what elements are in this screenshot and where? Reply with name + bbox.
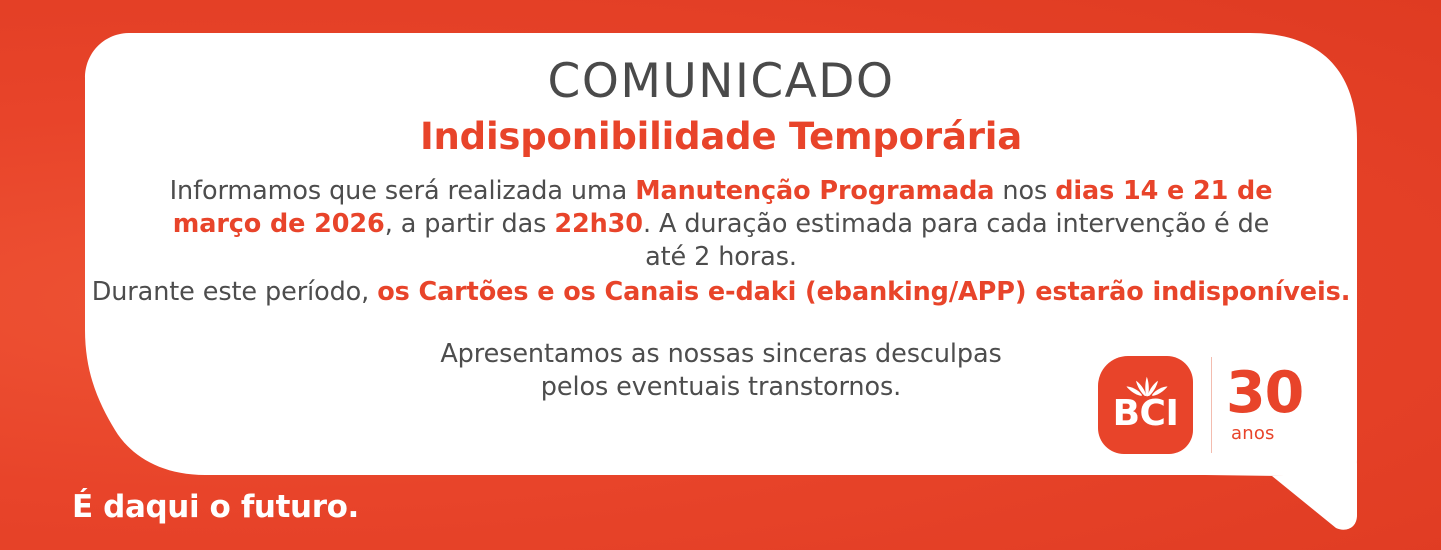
p2-highlight-channels: os Cartões e os Canais e-daki (ebanking/… — [377, 277, 1350, 307]
p2-text-part-1: Durante este período, — [92, 277, 377, 307]
notice-paragraph-2: Durante este período, os Cartões e os Ca… — [85, 276, 1357, 309]
notice-content: COMUNICADO Indisponibilidade Temporária … — [85, 33, 1357, 475]
logo-divider — [1211, 357, 1212, 453]
page-title: COMUNICADO — [85, 58, 1357, 105]
logo-mark-tile: BCI — [1098, 356, 1193, 454]
p1-text-part-2: nos — [994, 176, 1055, 206]
brand-tagline: É daqui o futuro. — [72, 492, 359, 523]
logo-brand-text: BCI — [1098, 394, 1193, 434]
notice-subtitle: Indisponibilidade Temporária — [85, 118, 1357, 155]
p1-highlight-time: 22h30 — [554, 209, 643, 239]
p1-text-part-1: Informamos que será realizada uma — [170, 176, 636, 206]
anniversary-number: 30 — [1226, 365, 1303, 422]
p1-highlight-maintenance: Manutenção Programada — [635, 176, 994, 206]
bci-logo: BCI 30 anos — [1098, 353, 1313, 463]
p1-text-part-4: . A duração estimada para cada intervenç… — [643, 209, 1269, 272]
p3-line-2: pelos eventuais transtornos. — [541, 372, 901, 402]
notice-paragraph-1: Informamos que será realizada uma Manute… — [85, 175, 1357, 274]
p1-text-part-3: , a partir das — [385, 209, 555, 239]
bci-announcement-banner: COMUNICADO Indisponibilidade Temporária … — [0, 0, 1441, 550]
anniversary-label: anos — [1231, 425, 1275, 443]
p3-line-1: Apresentamos as nossas sinceras desculpa… — [440, 339, 1001, 369]
